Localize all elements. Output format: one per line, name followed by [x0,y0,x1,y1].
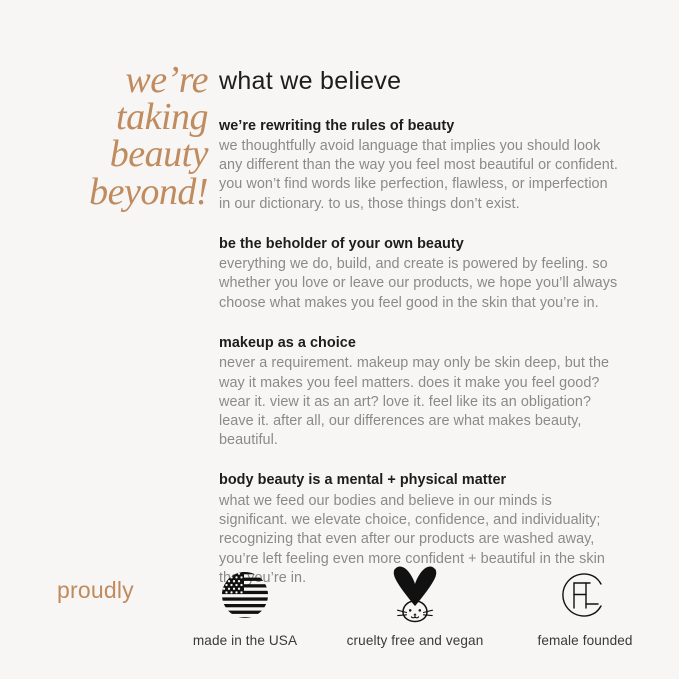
badge-cruelty-free-vegan: cruelty free and vegan [335,560,495,649]
belief-section-2-title: be the beholder of your own beauty [219,235,623,254]
beliefs-content: what we believe we’re rewriting the rule… [219,68,623,588]
bunny-heart-ears-icon [390,560,440,630]
badge-made-in-usa: made in the USA [165,560,325,649]
badge-made-in-usa-caption: made in the USA [193,633,297,649]
brand-headline: we’re taking beauty beyond! [18,62,208,211]
belief-section-4-title: body beauty is a mental + physical matte… [219,471,623,490]
footer: proudly [0,560,679,679]
badge-female-founded: female founded [505,560,665,649]
usa-flag-circle-icon [221,560,269,630]
proudly-label: proudly [57,579,134,602]
brand-headline-line-4: beyond! [18,174,208,211]
belief-section-2-body: everything we do, build, and create is p… [219,255,623,313]
brand-headline-line-2: taking [18,99,208,136]
brand-headline-line-1: we’re [18,62,208,99]
belief-section-1-body: we thoughtfully avoid language that impl… [219,137,623,214]
belief-section-2: be the beholder of your own beauty every… [219,235,623,313]
belief-section-1-title: we’re rewriting the rules of beauty [219,117,623,136]
belief-section-3: makeup as a choice never a requirement. … [219,334,623,451]
belief-section-3-body: never a requirement. makeup may only be … [219,354,623,450]
brand-headline-line-3: beauty [18,136,208,173]
badge-cruelty-free-vegan-caption: cruelty free and vegan [347,633,484,649]
badge-female-founded-caption: female founded [537,633,632,649]
female-founded-monogram-icon [560,560,610,630]
beliefs-page: we’re taking beauty beyond! what we beli… [0,0,679,679]
badge-row: made in the USA [165,560,665,649]
page-title: what we believe [219,68,623,96]
belief-section-1: we’re rewriting the rules of beauty we t… [219,117,623,214]
belief-section-3-title: makeup as a choice [219,334,623,353]
